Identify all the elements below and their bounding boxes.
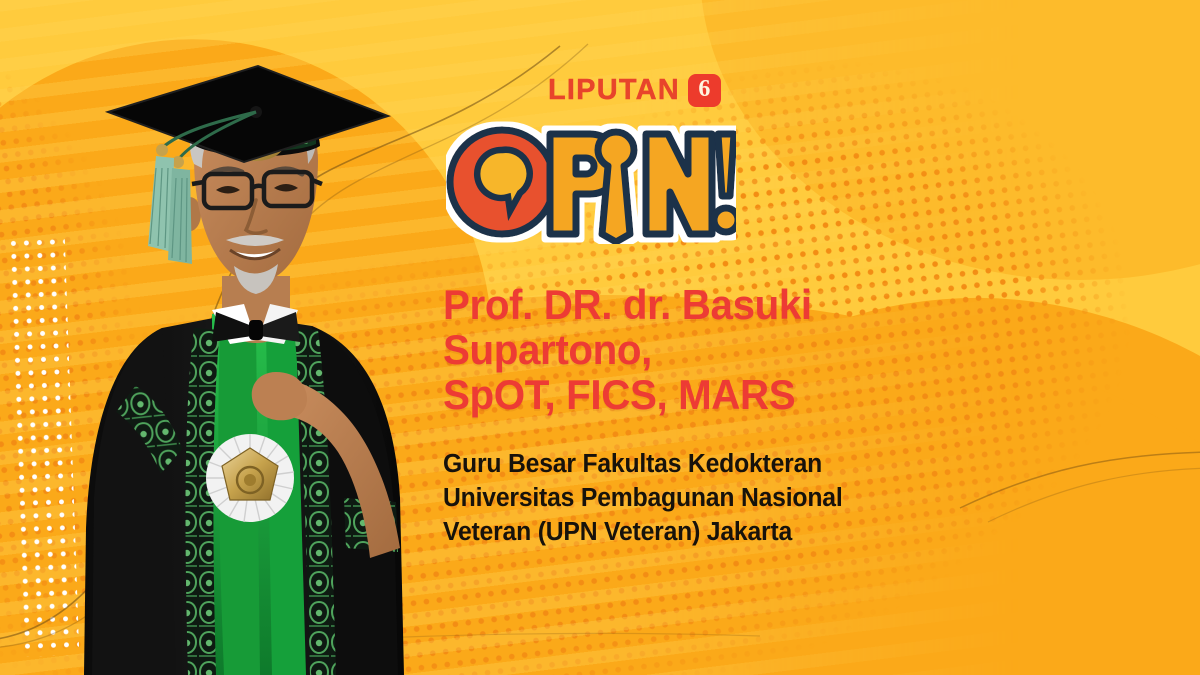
subheadline-affiliation: Guru Besar Fakultas Kedokteran Universit… — [443, 448, 947, 550]
opin-letter-o — [450, 130, 554, 234]
opin-letter-i-pin-icon — [598, 132, 634, 242]
opin-letter-n — [646, 134, 712, 234]
cap-tassel — [148, 156, 192, 264]
headline-line-1: Prof. DR. dr. Basuki Supartono, — [443, 281, 812, 373]
liputan-wordmark: LIPUTAN — [548, 74, 680, 107]
opin-logo[interactable] — [446, 108, 736, 244]
headline-title: Prof. DR. dr. Basuki Supartono, SpOT, FI… — [443, 283, 942, 418]
portrait-rosette — [206, 434, 294, 522]
liputan-six-badge: 6 — [688, 74, 721, 107]
subheadline-line-3: Veteran (UPN Veteran) Jakarta — [443, 516, 947, 550]
liputan6-logo[interactable]: LIPUTAN 6 — [548, 74, 721, 107]
subheadline-line-1: Guru Besar Fakultas Kedokteran — [443, 448, 947, 482]
opin-letters — [450, 130, 736, 242]
subheadline-line-2: Universitas Pembagunan Nasional — [443, 482, 947, 516]
opin-exclamation-mark — [714, 134, 736, 232]
portrait-photo — [44, 28, 464, 675]
opini-banner-graphic: LIPUTAN 6 — [0, 0, 1200, 675]
headline-line-2: SpOT, FICS, MARS — [443, 373, 942, 418]
